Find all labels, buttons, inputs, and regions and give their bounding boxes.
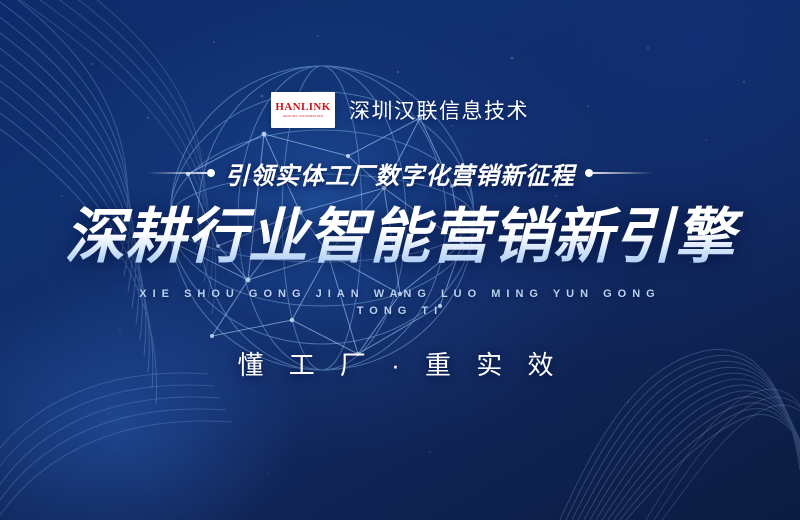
left-rule-line <box>147 172 207 174</box>
company-name: 深圳汉联信息技术 <box>349 95 529 125</box>
logo-subtext: HANLINK INFORMATION <box>283 115 323 118</box>
banner-headline: 深耕行业智能营销新引擎 <box>0 205 800 270</box>
hanlink-logo: HANLINK HANLINK INFORMATION <box>271 92 335 128</box>
brand-row: HANLINK HANLINK INFORMATION 深圳汉联信息技术 <box>0 90 800 130</box>
left-rule-dot <box>207 169 215 177</box>
promo-banner: HANLINK HANLINK INFORMATION 深圳汉联信息技术 引领实… <box>0 0 800 520</box>
pinyin-block: XIE SHOU GONG JIAN WANG LUO MING YUN GON… <box>0 286 800 320</box>
right-rule-decoration <box>585 169 653 177</box>
subtitle-row: 引领实体工厂数字化营销新征程 <box>0 156 800 190</box>
left-rule-decoration <box>147 169 215 177</box>
pinyin-line-2: TONG TI <box>0 303 800 320</box>
right-rule-line <box>593 172 653 174</box>
banner-subtitle: 引领实体工厂数字化营销新征程 <box>225 156 575 191</box>
pinyin-line-1: XIE SHOU GONG JIAN WANG LUO MING YUN GON… <box>0 286 800 303</box>
logo-wordmark: HANLINK <box>275 102 330 113</box>
banner-tagline: 懂 工 厂 · 重 实 效 <box>0 345 800 382</box>
banner-content: HANLINK HANLINK INFORMATION 深圳汉联信息技术 引领实… <box>0 0 800 520</box>
right-rule-dot <box>585 169 593 177</box>
